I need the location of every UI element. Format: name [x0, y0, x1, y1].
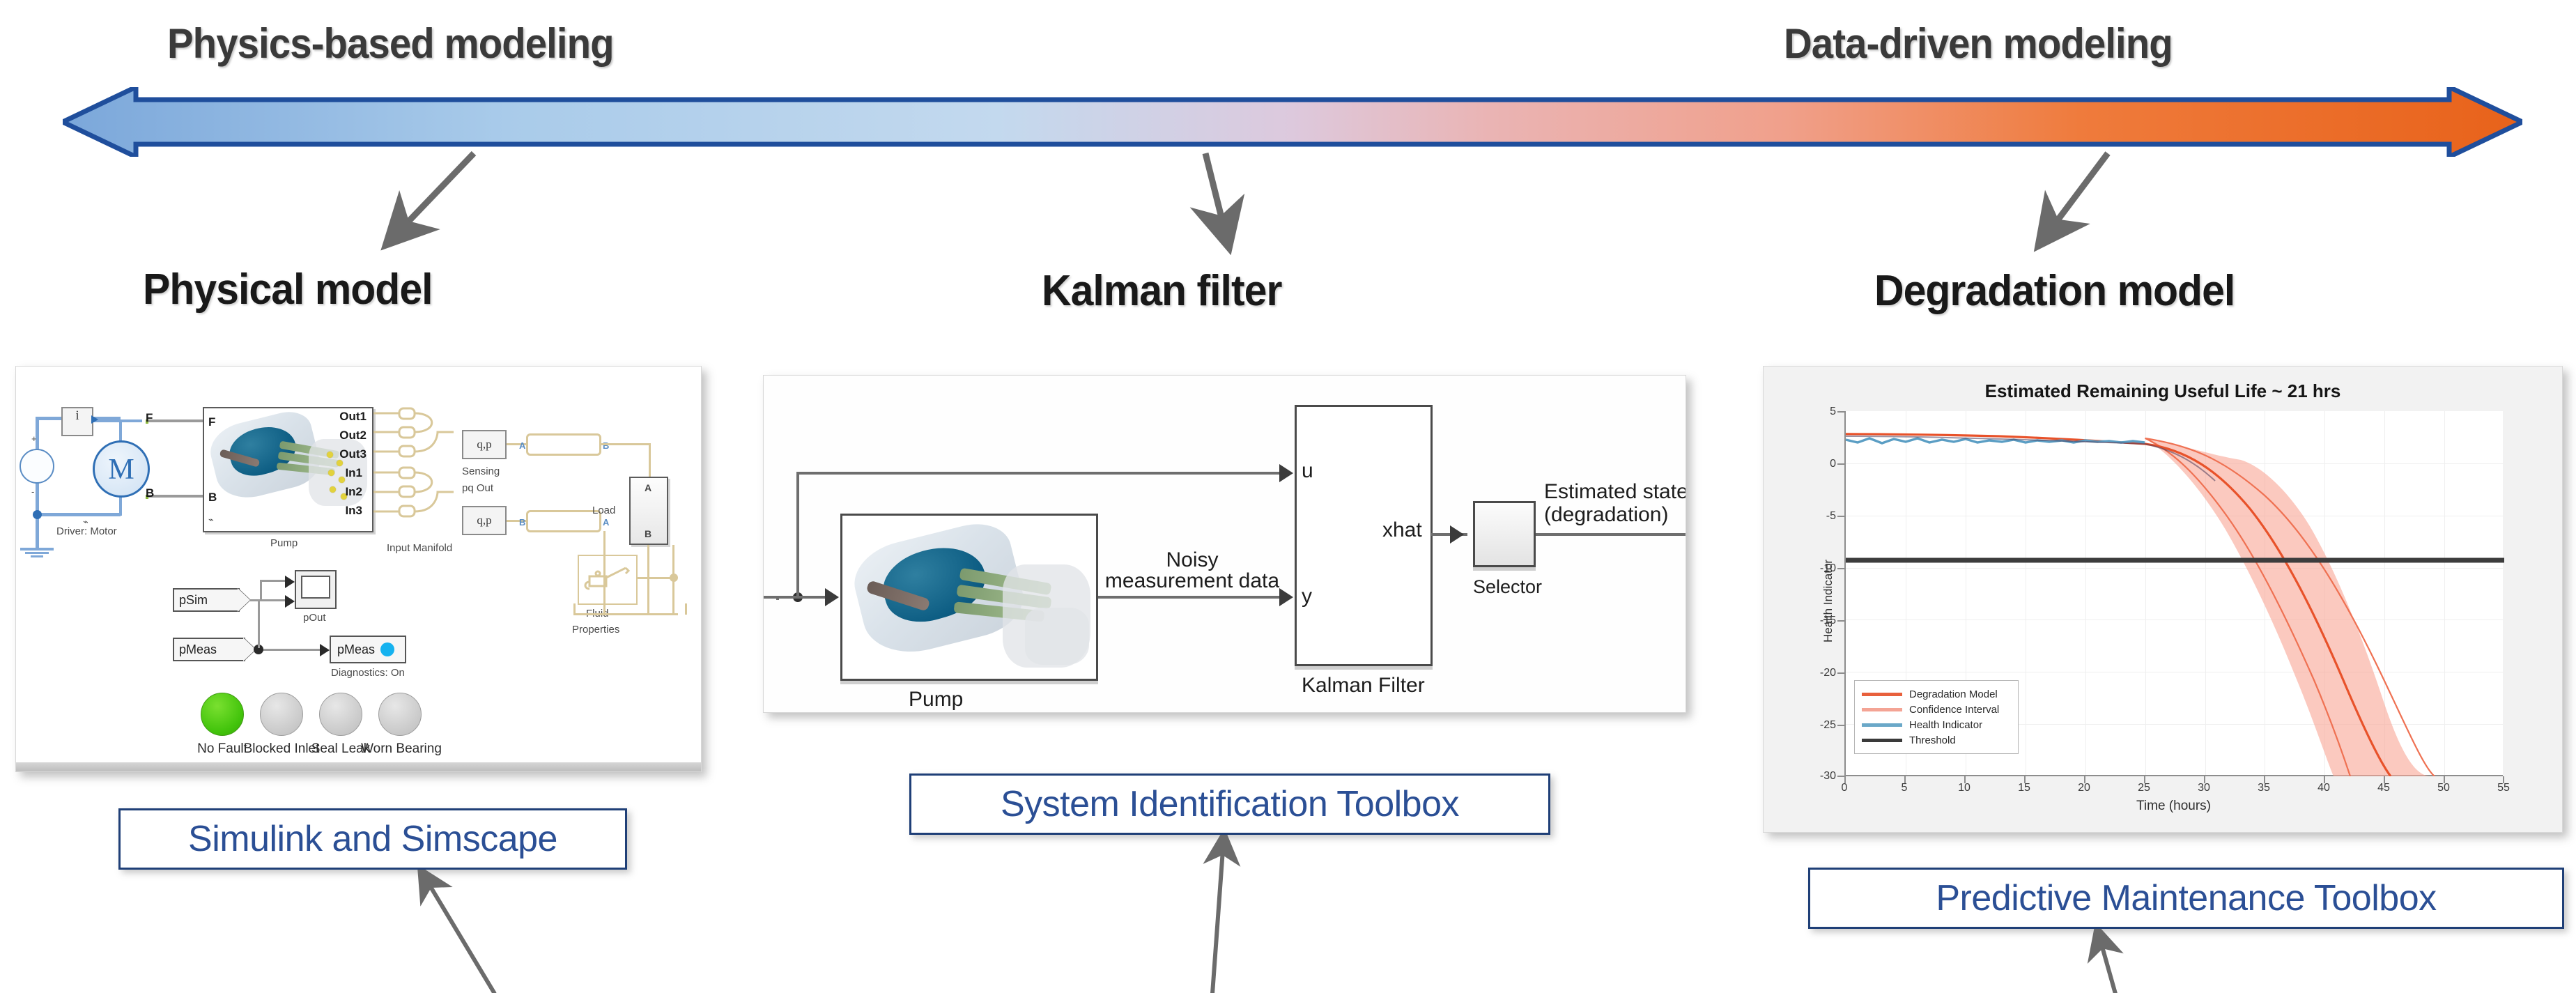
x-tick-label: 25: [2130, 782, 2158, 794]
lamp-seal-leak[interactable]: [319, 693, 362, 736]
y-tick-label: 0: [1797, 458, 1836, 470]
y-tick-label: -30: [1797, 770, 1836, 783]
pointer-arrow-kalman: [1185, 150, 1268, 265]
legend-item-degradation-model: Degradation Model: [1862, 686, 2011, 702]
pointer-arrow-up-simulink: [411, 870, 550, 993]
y-tick-label: -25: [1797, 719, 1836, 732]
fault-lamp-row: No Fault Blocked Inlet Seal Leak Worn Be…: [16, 367, 701, 771]
lamp-no-fault[interactable]: [201, 693, 244, 736]
x-tick-label: 40: [2310, 782, 2338, 794]
lamp-blocked-inlet[interactable]: [260, 693, 303, 736]
spectrum-label-left: Physics-based modeling: [167, 20, 614, 68]
y-tick-label: -5: [1797, 510, 1836, 523]
pump-illustration: [842, 516, 1096, 679]
selector-block[interactable]: [1473, 501, 1536, 567]
wire: [796, 472, 1284, 475]
section-title-degradation-model: Degradation model: [1874, 266, 2235, 316]
wire: [1098, 596, 1285, 599]
rul-chart-figure[interactable]: Estimated Remaining Useful Life ~ 21 hrs…: [1763, 366, 2563, 833]
port-label-u: u: [1302, 459, 1313, 483]
kalman-filter-label: Kalman Filter: [1302, 674, 1425, 698]
y-tick-label: 5: [1797, 406, 1836, 418]
port-label-y: y: [1302, 585, 1312, 608]
kalman-filter-diagram[interactable]: Pump Noisy measurement data u y Kalman F…: [763, 375, 1686, 713]
arrowhead-icon: [1450, 525, 1464, 544]
x-tick-label: 45: [2370, 782, 2398, 794]
legend-swatch: [1862, 708, 1902, 711]
callout-system-identification-toolbox[interactable]: System Identification Toolbox: [909, 773, 1550, 835]
legend-label: Degradation Model: [1909, 688, 1998, 700]
chart-x-axis-label: Time (hours): [1844, 799, 2503, 814]
panel-bottom-scrollbar[interactable]: [16, 762, 701, 771]
x-tick-label: 30: [2190, 782, 2218, 794]
noisy-label-line1: Noisy: [1091, 548, 1293, 572]
legend-swatch: [1862, 739, 1902, 742]
x-tick-label: 50: [2430, 782, 2458, 794]
x-tick-label: 10: [1950, 782, 1978, 794]
wire: [799, 596, 826, 599]
x-tick-label: 20: [2070, 782, 2098, 794]
legend-swatch: [1862, 693, 1902, 696]
lamp-label-worn-bearing: Worn Bearing: [360, 741, 442, 757]
estimated-state-line2: (degradation): [1544, 503, 1668, 527]
legend-swatch: [1862, 723, 1902, 727]
callout-predictive-maintenance-toolbox[interactable]: Predictive Maintenance Toolbox: [1808, 868, 2564, 929]
slide-canvas: Physics-based modeling Data-driven model…: [0, 0, 2576, 993]
callout-simulink-and-simscape[interactable]: Simulink and Simscape: [118, 808, 627, 870]
legend-label: Health Indicator: [1909, 719, 1982, 731]
spectrum-labels: Physics-based modeling Data-driven model…: [0, 20, 2576, 82]
legend-label: Threshold: [1909, 734, 1956, 746]
selector-label: Selector: [1473, 576, 1542, 598]
section-title-physical-model: Physical model: [143, 265, 433, 314]
port-label-xhat: xhat: [1382, 518, 1422, 542]
pointer-arrow-physical: [369, 150, 509, 265]
y-tick-label: -20: [1797, 667, 1836, 679]
pointer-arrow-up-pdm: [2083, 929, 2167, 993]
chart-title: Estimated Remaining Useful Life ~ 21 hrs: [1776, 380, 2550, 402]
spectrum-label-right: Data-driven modeling: [1784, 20, 2173, 68]
lamp-worn-bearing[interactable]: [378, 693, 422, 736]
legend-label: Confidence Interval: [1909, 704, 1999, 716]
chart-legend: Degradation Model Confidence Interval He…: [1854, 680, 2019, 754]
legend-item-confidence-interval: Confidence Interval: [1862, 702, 2011, 717]
kalman-pump-block[interactable]: [840, 514, 1098, 681]
x-tick-label: 5: [1890, 782, 1918, 794]
x-tick-label: 15: [2010, 782, 2038, 794]
pointer-arrow-degradation: [2021, 150, 2132, 265]
x-tick-label: 55: [2490, 782, 2517, 794]
x-tick-label: 35: [2250, 782, 2278, 794]
y-tick-label: -10: [1797, 562, 1836, 575]
estimated-state-line1: Estimated state: [1544, 480, 1686, 504]
noisy-label-line2: measurement data: [1070, 569, 1314, 593]
x-tick-label: 0: [1830, 782, 1858, 794]
pointer-arrow-up-sysid: [1185, 835, 1268, 993]
kalman-pump-label: Pump: [909, 688, 963, 711]
spectrum-gradient-arrow: [63, 87, 2522, 157]
wire: [796, 472, 799, 597]
section-title-kalman-filter: Kalman filter: [1042, 266, 1281, 316]
wire: [1536, 533, 1686, 536]
arrowhead-icon: [825, 588, 839, 606]
y-tick-label: -15: [1797, 615, 1836, 627]
wire: [764, 596, 799, 599]
simulink-model-screenshot[interactable]: + - i M ⌁ Driver: Motor F B: [15, 366, 702, 772]
arrowhead-icon: [1279, 464, 1293, 482]
legend-item-health-indicator: Health Indicator: [1862, 717, 2011, 732]
legend-item-threshold: Threshold: [1862, 732, 2011, 748]
